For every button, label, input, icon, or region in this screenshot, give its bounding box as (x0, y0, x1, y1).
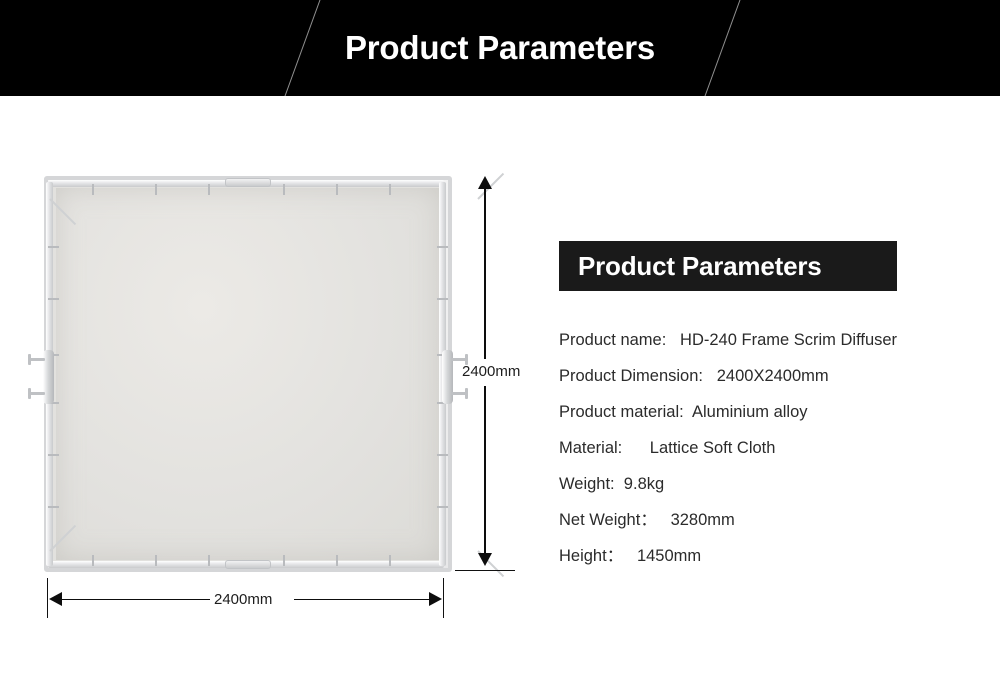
cloth-clip (437, 506, 448, 508)
cloth-clip (155, 184, 157, 195)
cloth-clip (92, 555, 94, 566)
cloth-clip (48, 506, 59, 508)
cloth-clip (48, 298, 59, 300)
cloth-clip (283, 184, 285, 195)
spec-row-height: Height： 1450mm (559, 538, 989, 574)
cloth-clip (437, 454, 448, 456)
wing-knob-icon (30, 392, 45, 395)
cloth-clip (389, 555, 391, 566)
cloth-clip (208, 555, 210, 566)
product-parameters-page: Product Parameters (0, 0, 1000, 700)
dimension-line-upper (484, 189, 486, 359)
spec-row-material: Material: Lattice Soft Cloth (559, 430, 989, 466)
dimension-arrow-left (49, 592, 62, 606)
wing-knob-icon (30, 358, 45, 361)
dimension-arrow-down (478, 553, 492, 566)
extension-line-bottom (455, 570, 515, 571)
dimension-arrow-up (478, 176, 492, 189)
spec-panel-title: Product Parameters (559, 251, 822, 282)
width-dimension-label: 2400mm (214, 591, 272, 608)
wing-knob-icon (451, 392, 466, 395)
cloth-clip (437, 298, 448, 300)
product-image (40, 174, 456, 576)
cloth-clip (48, 454, 59, 456)
dimension-arrow-right (429, 592, 442, 606)
diffusion-cloth (56, 188, 440, 560)
cloth-clip (208, 184, 210, 195)
cloth-clip (336, 184, 338, 195)
spec-panel-banner: Product Parameters (559, 241, 897, 291)
cloth-clip (336, 555, 338, 566)
cloth-clip (48, 246, 59, 248)
cloth-clip (283, 555, 285, 566)
cloth-clip (437, 246, 448, 248)
extension-line-right (443, 578, 444, 618)
page-title: Product Parameters (0, 0, 1000, 96)
cloth-clip (155, 555, 157, 566)
frame-hinge-bottom (225, 560, 271, 569)
cloth-clip (92, 184, 94, 195)
height-dimension-label: 2400mm (462, 363, 520, 380)
spec-list: Product name: HD-240 Frame Scrim Diffuse… (559, 322, 989, 574)
spec-row-weight: Weight: 9.8kg (559, 466, 989, 502)
header-banner: Product Parameters (0, 0, 1000, 96)
spec-row-net-weight: Net Weight： 3280mm (559, 502, 989, 538)
spec-row-product-name: Product name: HD-240 Frame Scrim Diffuse… (559, 322, 989, 358)
dimension-line-right-seg (294, 599, 430, 601)
spec-row-product-material: Product material: Aluminium alloy (559, 394, 989, 430)
side-clamp-left (43, 350, 54, 404)
spec-row-product-dimension: Product Dimension: 2400X2400mm (559, 358, 989, 394)
dimension-line-lower (484, 386, 486, 553)
dimension-line-left-seg (62, 599, 210, 601)
frame-hinge-top (225, 178, 271, 187)
side-clamp-right (442, 350, 453, 404)
cloth-clip (389, 184, 391, 195)
wing-knob-icon (451, 358, 466, 361)
